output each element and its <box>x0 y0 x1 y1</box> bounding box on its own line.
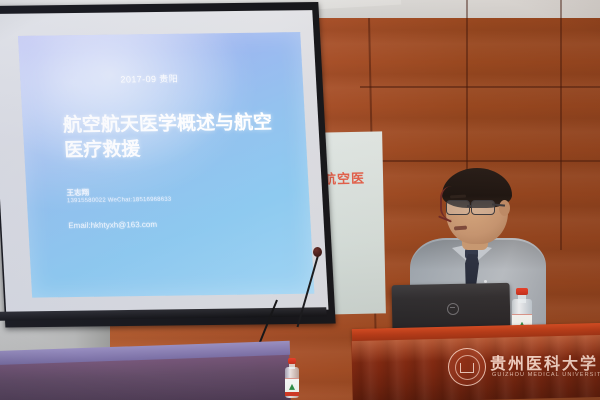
bottle-neck <box>518 294 527 302</box>
wall-seam <box>360 86 600 88</box>
bottle-cap <box>288 358 297 364</box>
slide-presenter-name: 王志翔 <box>66 187 89 198</box>
projected-slide: 2017-09 贵阳 航空航天医学概述与航空医疗救援 王志翔 139155800… <box>18 32 314 298</box>
water-bottle-table[interactable] <box>285 358 299 398</box>
university-name-en: GUIZHOU MEDICAL UNIVERSITY <box>492 372 600 378</box>
speaker-ear <box>499 200 510 216</box>
slide-email: Email:hkhtyxh@163.com <box>68 220 157 230</box>
bottle-label-mark-icon <box>289 384 295 390</box>
university-seal-mark <box>460 363 474 373</box>
headset-mic-band <box>440 186 456 220</box>
slide-date-location: 2017-09 贵阳 <box>120 72 178 86</box>
presentation-photo-scene: 航空医 2017-09 贵阳 航空航天医学概述与航空医疗救援 王志翔 13915… <box>0 0 600 400</box>
bottle-label <box>285 378 299 396</box>
laptop-brand-logo-bar <box>450 307 455 308</box>
slide-contact-line: 13915580022 WeChat:18516968633 <box>67 197 172 204</box>
microphone-head-icon <box>313 247 322 257</box>
wall-seam <box>360 160 600 162</box>
bottle-label-stripe <box>285 392 299 396</box>
bottle-neck <box>289 363 295 369</box>
university-name-cn: 贵州医科大学 <box>490 350 598 374</box>
university-seal-icon <box>448 348 486 386</box>
rear-banner-text: 航空医 <box>323 167 393 187</box>
bottle-cap <box>516 288 529 295</box>
glasses-bridge <box>467 205 472 207</box>
laptop-brand-logo-icon <box>447 303 459 315</box>
slide-title: 航空航天医学概述与航空医疗救援 <box>62 110 283 163</box>
